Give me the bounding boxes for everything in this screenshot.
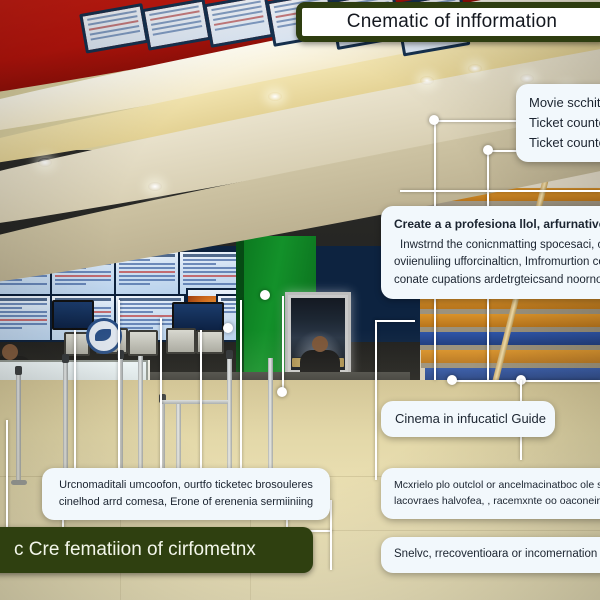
callout-bottom-left[interactable]: Urcnomaditali umcoofon, ourtfo ticketec … xyxy=(42,468,330,520)
callout-lower-right[interactable]: Mcxrielo plo outclol or ancelmacinatboc … xyxy=(381,468,600,519)
callout-bottom-right[interactable]: Snelvc, rrecoventioara or incomernation xyxy=(381,537,600,573)
screenshot-canvas: Movie scchit Ticket counte Ticket counte… xyxy=(0,0,600,600)
callout-guide-label: Cinema in infucaticl Guide xyxy=(395,409,541,429)
callout-middle-right[interactable]: Create a a profesiona llol, arfurnative … xyxy=(381,206,600,299)
callout-heading: Create a a profesiona llol, arfurnative … xyxy=(394,215,600,234)
callout-line: conate cupations ardetrgteicsand noornor… xyxy=(394,272,600,290)
callout-line: Movie scchit xyxy=(529,93,600,113)
connector-line xyxy=(6,420,8,530)
connector-line xyxy=(160,318,162,470)
connector-line xyxy=(330,500,332,570)
connector-dot xyxy=(483,145,493,155)
connector-line xyxy=(375,320,377,480)
connector-line xyxy=(434,120,520,122)
annotation-overlay: Movie scchit Ticket counte Ticket counte… xyxy=(0,0,600,600)
callout-line: Ticket counte xyxy=(529,133,600,153)
callout-line: Mcxrielo plo outclol or ancelmacinatboc … xyxy=(394,477,600,493)
connector-line xyxy=(240,300,242,470)
connector-line xyxy=(282,296,284,394)
green-banner[interactable]: c Cre fematiion of cirfometnx xyxy=(0,527,313,573)
callout-line: cinelhod arrd comesa, Erone of erenenia … xyxy=(55,494,317,511)
callout-line: Urcnomaditali umcoofon, ourtfo ticketec … xyxy=(55,477,317,494)
callout-guide[interactable]: Cinema in infucaticl Guide xyxy=(381,401,555,437)
title-bar[interactable]: Cnematic of infformation xyxy=(296,2,600,42)
connector-line xyxy=(375,320,415,322)
connector-dot xyxy=(277,387,287,397)
connector-line xyxy=(200,330,202,470)
connector-line xyxy=(74,330,76,470)
callout-line: Snelvc, rrecoventioara or incomernation xyxy=(394,546,600,564)
callout-line: Inwstrnd the conicnmatting spocesaci, ca… xyxy=(394,237,600,255)
callout-line: Ticket counte xyxy=(529,113,600,133)
title-bar-text: Cnematic of infformation xyxy=(302,8,600,36)
callout-line: oviienuliing ufforcinalticn, Imfromurtio… xyxy=(394,254,600,272)
connector-line xyxy=(118,300,120,470)
callout-top-right[interactable]: Movie scchit Ticket counte Ticket counte xyxy=(516,84,600,162)
callout-line: lacovraes halvofea, , racemxnte oo oacon… xyxy=(394,493,600,509)
green-banner-text: c Cre fematiion of cirfometnx xyxy=(14,539,256,561)
connector-dot xyxy=(223,323,233,333)
connector-dot xyxy=(429,115,439,125)
connector-dot xyxy=(447,375,457,385)
connector-dot xyxy=(260,290,270,300)
connector-line xyxy=(400,190,600,192)
